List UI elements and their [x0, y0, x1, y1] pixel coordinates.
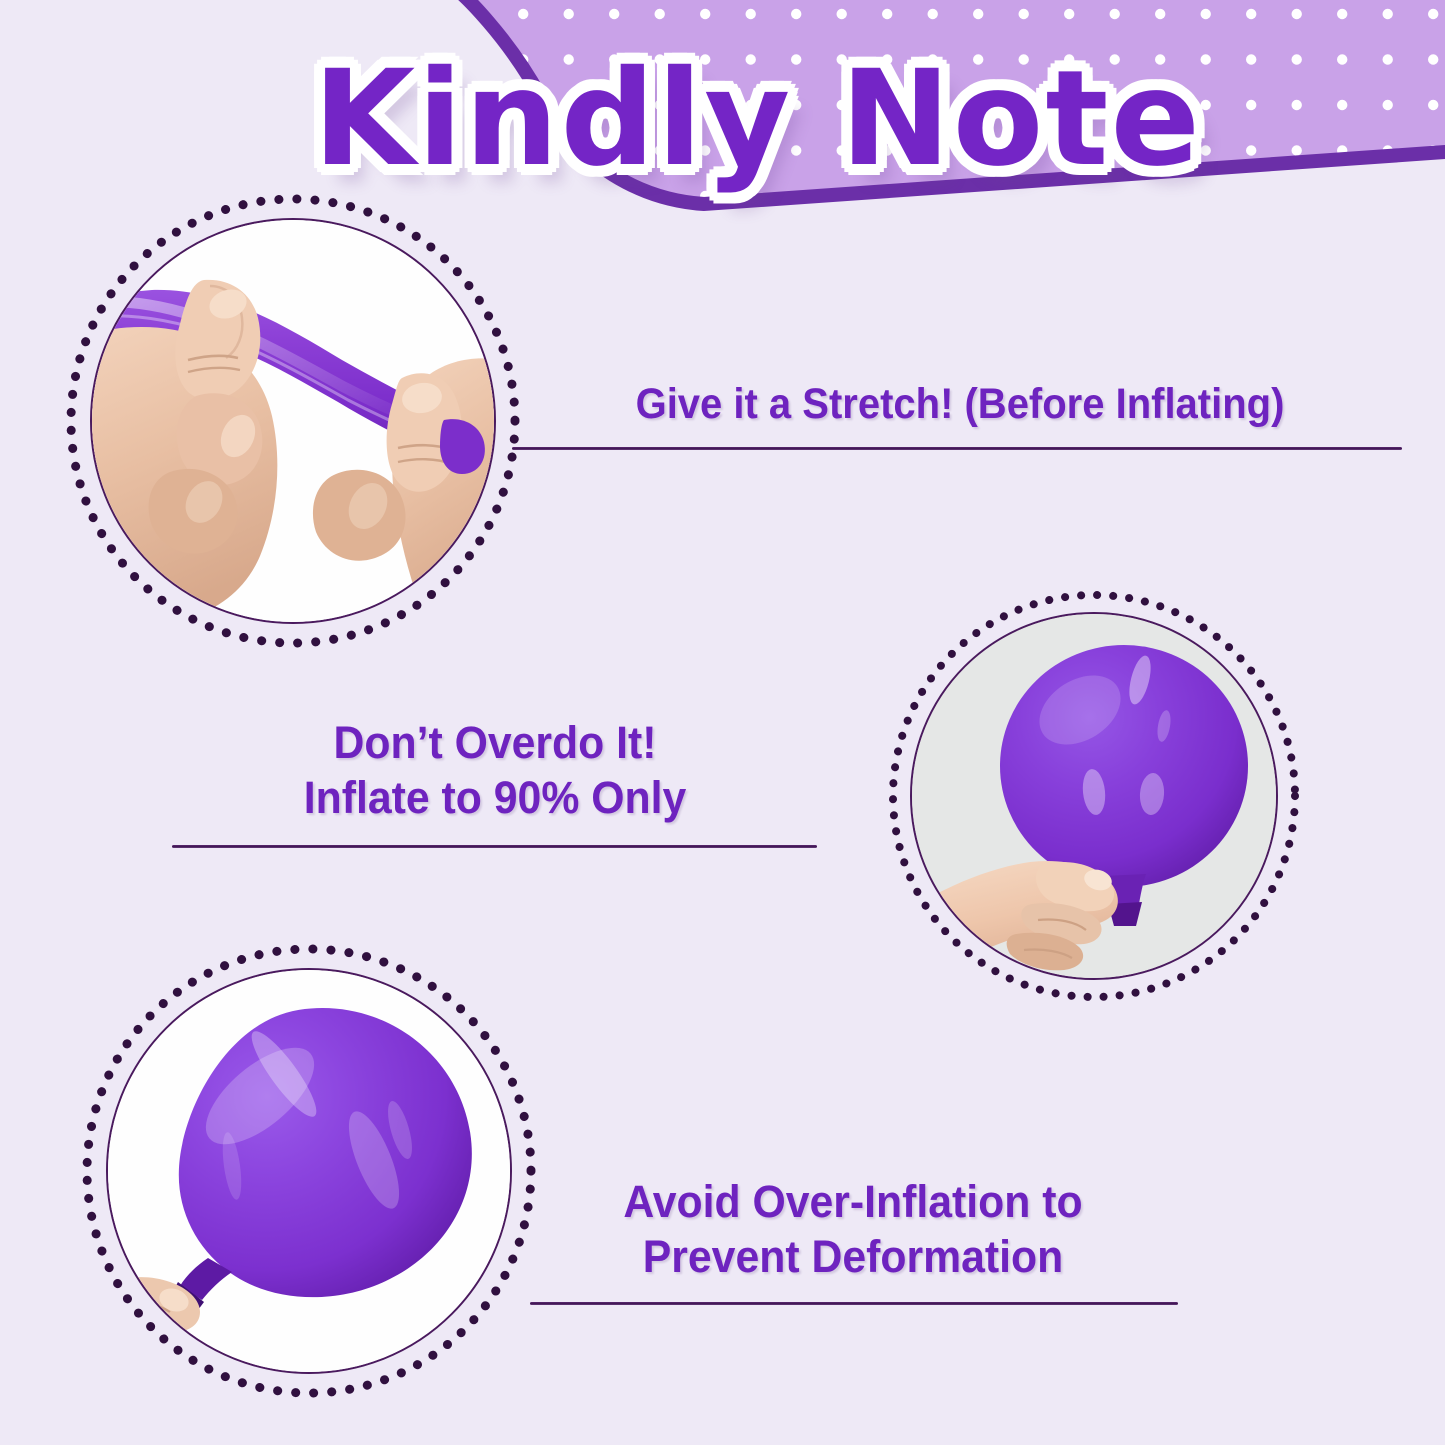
note-line: Avoid Over-Inflation to [544, 1175, 1162, 1230]
photo-circle-stretch [62, 190, 524, 652]
photo-circle-inflate [884, 586, 1304, 1006]
kindly-note-poster: Kindly Note [0, 0, 1445, 1445]
note-line: Prevent Deformation [544, 1230, 1162, 1285]
note-underline-stretch [512, 447, 1402, 450]
photo-circle-deform [78, 940, 540, 1402]
note-label-stretch: Give it a Stretch! (Before Inflating) [542, 378, 1379, 430]
page-title: Kindly Note [0, 48, 1445, 191]
note-line: Don’t Overdo It! [186, 716, 804, 771]
image-hand-holding-inflated-balloon [910, 612, 1278, 980]
image-over-inflated-balloon [106, 968, 512, 1374]
note-line: Inflate to 90% Only [186, 771, 804, 826]
note-underline-overdo [172, 845, 817, 848]
image-hands-stretching-balloon [90, 218, 496, 624]
note-label-overdo: Don’t Overdo It! Inflate to 90% Only [186, 716, 804, 826]
note-label-deform: Avoid Over-Inflation to Prevent Deformat… [544, 1175, 1162, 1285]
note-line: Give it a Stretch! (Before Inflating) [542, 378, 1379, 430]
note-underline-deform [530, 1302, 1178, 1305]
